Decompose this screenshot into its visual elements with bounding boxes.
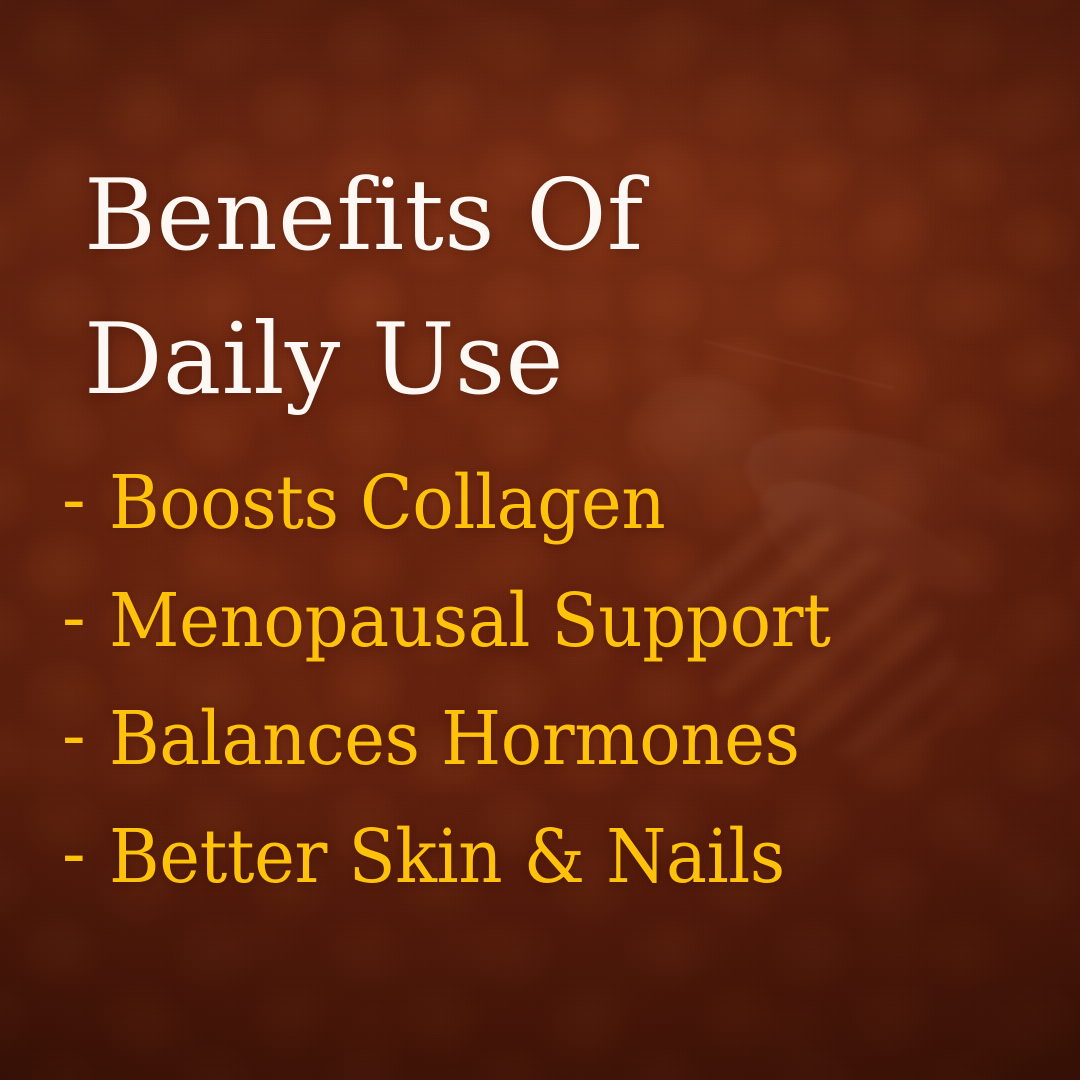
dash-bullet-icon: -	[62, 700, 96, 770]
list-item: - Balances Hormones	[62, 680, 1062, 798]
dash-bullet-icon: -	[62, 818, 96, 888]
page-title: Benefits Of Daily Use	[84, 144, 844, 432]
poster-canvas: Benefits Of Daily Use - Boosts Collagen …	[0, 0, 1080, 1080]
benefit-label: Balances Hormones	[96, 702, 800, 776]
list-item: - Menopausal Support	[62, 562, 1062, 680]
benefits-list: - Boosts Collagen - Menopausal Support -…	[62, 444, 1062, 916]
benefit-label: Menopausal Support	[96, 584, 830, 658]
dash-bullet-icon: -	[62, 464, 96, 534]
benefit-label: Better Skin & Nails	[96, 820, 785, 894]
list-item: - Boosts Collagen	[62, 444, 1062, 562]
poster-content: Benefits Of Daily Use - Boosts Collagen …	[0, 0, 1080, 1080]
dash-bullet-icon: -	[62, 582, 96, 652]
benefit-label: Boosts Collagen	[96, 466, 665, 540]
list-item: - Better Skin & Nails	[62, 798, 1062, 916]
